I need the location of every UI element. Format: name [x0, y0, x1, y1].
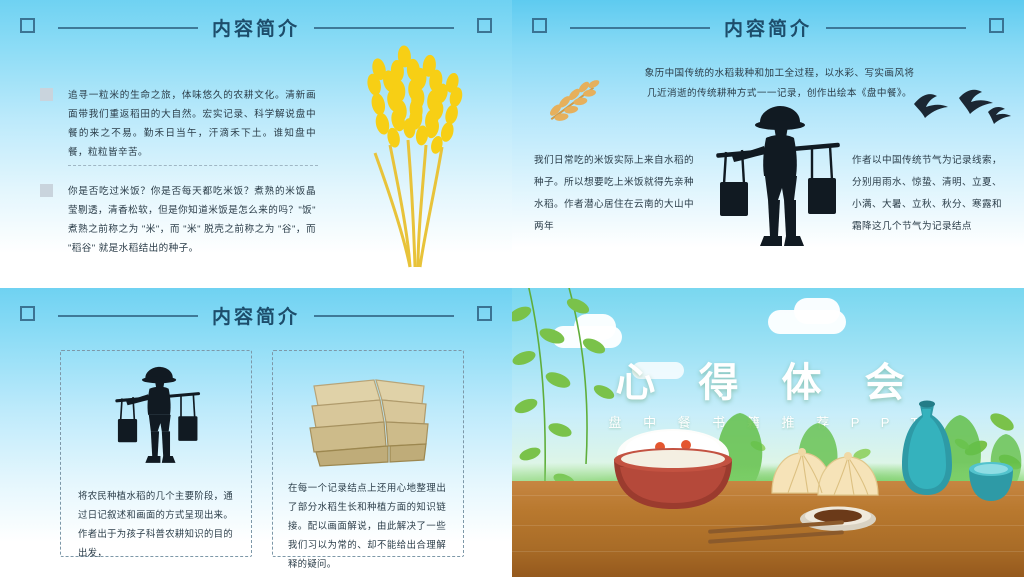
teacup-icon [964, 461, 1018, 505]
teapot-icon [898, 399, 956, 499]
slide-deck-grid: 内容简介 追寻一粒米的生命之旅，体味悠久的农耕文化。清新画面带我们重返稻田的大自… [0, 0, 1024, 577]
slide-1-title: 内容简介 [212, 14, 300, 41]
rice-sacks-icon [288, 366, 448, 471]
slide-1-paragraph-2: 你是否吃过米饭？你是否每天都吃米饭？煮熟的米饭晶莹剔透，清香松软，但是你知道米饭… [68, 182, 316, 258]
slide-1: 内容简介 追寻一粒米的生命之旅，体味悠久的农耕文化。清新画面带我们重返稻田的大自… [0, 0, 512, 288]
title-rule-right [826, 27, 966, 29]
dumplings-icon [762, 433, 892, 503]
farmer-carrying-pole-icon [92, 360, 222, 480]
title-rule-left [570, 27, 710, 29]
title-rule-left [58, 315, 198, 317]
rice-bowl-icon [598, 415, 748, 513]
slide-3-title: 内容简介 [212, 302, 300, 329]
swallows-icon [904, 82, 1014, 128]
bullet-square-2 [40, 184, 53, 197]
slide-3-title-bar: 内容简介 [0, 302, 512, 329]
wheat-ear-icon [532, 78, 610, 128]
slide-4: 心 得 体 会 盘 中 餐 书 籍 推 荐 P P T [512, 288, 1024, 577]
slide-3: 内容简介 [0, 288, 512, 577]
wheat-bundle-icon [330, 45, 500, 270]
content-box-1-text: 将农民种植水稻的几个主要阶段，通过日记叙述和画面的方式呈现出来。作者出于为孩子科… [78, 486, 233, 562]
content-box-2-text: 在每一个记录结点上还用心地整理出了部分水稻生长和种植方面的知识链接。配以画面解说… [288, 478, 446, 573]
paragraph-divider [68, 165, 318, 166]
slide-2-paragraph-2: 作者以中国传统节气为记录线索，分别用雨水、惊蛰、清明、立夏、小满、大暑、立秋、秋… [852, 150, 1002, 238]
slide-1-paragraph-1: 追寻一粒米的生命之旅，体味悠久的农耕文化。清新画面带我们重返稻田的大自然。宏实记… [68, 86, 316, 162]
chopsticks-icon [708, 517, 848, 547]
farmer-carrying-pole-icon [702, 96, 852, 271]
slide-2-title-bar: 内容简介 [512, 14, 1024, 41]
title-rule-left [58, 27, 198, 29]
title-rule-right [314, 315, 454, 317]
bullet-square-1 [40, 88, 53, 101]
title-rule-right [314, 27, 454, 29]
cloud-icon [794, 298, 840, 324]
slide-2: 内容简介 象历中国传统的水稻栽种和加工全过程，以水彩、写实画风将几近消逝的传统耕… [512, 0, 1024, 288]
slide-1-title-bar: 内容简介 [0, 14, 512, 41]
slide-2-title: 内容简介 [724, 14, 812, 41]
slide-2-paragraph-1: 我们日常吃的米饭实际上来自水稻的种子。所以想要吃上米饭就得先亲种水稻。作者潜心居… [534, 150, 694, 238]
